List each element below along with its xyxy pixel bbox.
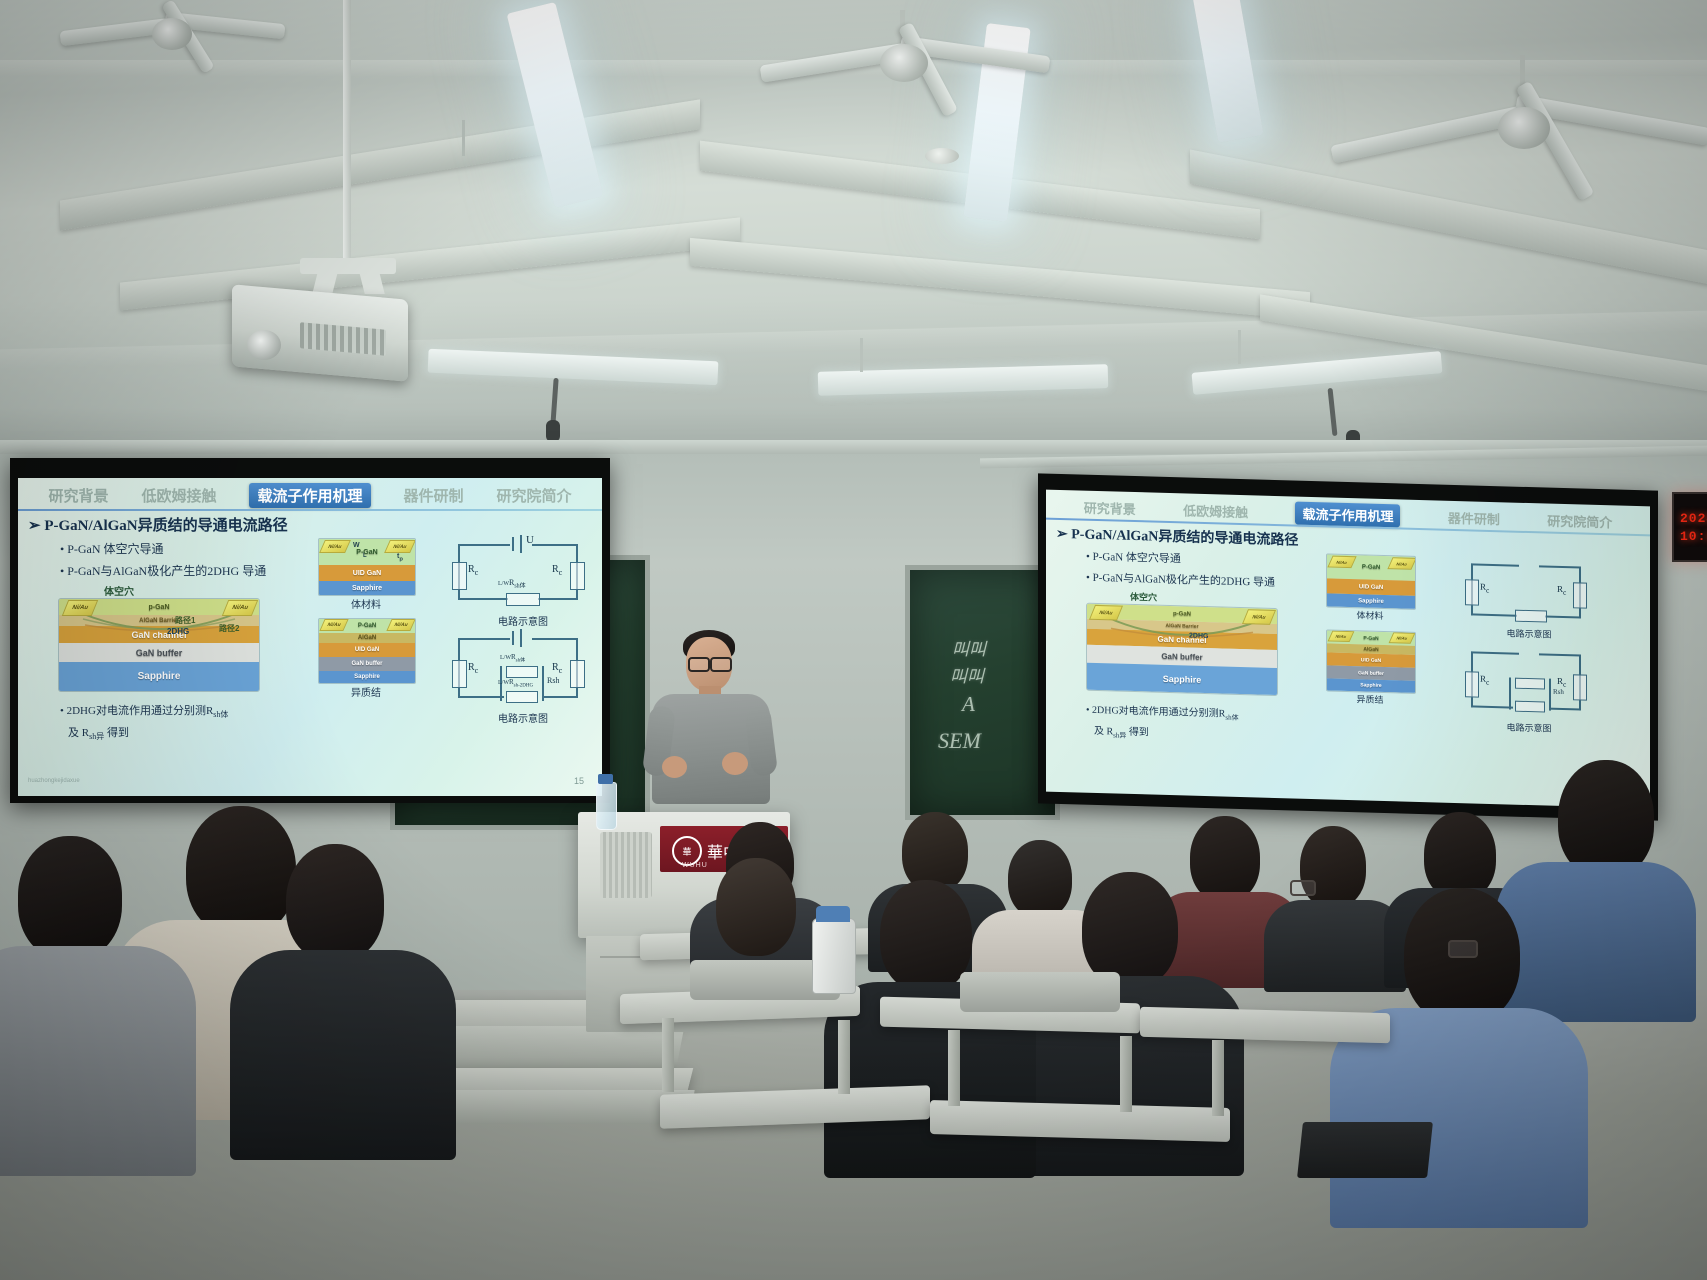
hetero-layer-1: AlGaN xyxy=(319,633,415,643)
circuit-top-caption: 电路示意图 xyxy=(478,613,568,628)
slide-tab-r3[interactable]: 器件研制 xyxy=(1448,507,1500,527)
rc-left-text: R xyxy=(468,662,475,673)
slide-footer-note-r2: 及 Rsh异 得到 xyxy=(1094,722,1149,742)
slide-watermark: huazhongkejidaxue xyxy=(28,778,80,784)
slide-tab-4[interactable]: 研究院简介 xyxy=(496,485,571,506)
bulk-layer-1: UID GaN xyxy=(319,565,415,581)
hetero-stack-right: P-GaN AlGaN UID GaN GaN buffer Sapphire … xyxy=(1326,629,1416,694)
dim-t-sub: p xyxy=(399,556,403,562)
circuit-bottom: Rc Rc L/WRsh体 L/WRsh-2DHG Rsh xyxy=(448,634,588,710)
rc-right-sub: c xyxy=(559,666,563,675)
hetero-stack-caption-r: 异质结 xyxy=(1342,692,1398,707)
audience-glasses xyxy=(1448,940,1478,958)
blackboard-center xyxy=(905,565,1060,820)
resistor-rc-right xyxy=(1573,582,1587,608)
slide-heading: ➢ P-GaN/AlGaN异质结的导通电流路径 xyxy=(28,514,288,535)
rc-right-sub: c xyxy=(559,568,563,577)
podium-speaker-grill xyxy=(600,832,652,898)
presenter-hand-right xyxy=(722,752,748,775)
podium-institution-en: WUHU xyxy=(682,862,708,869)
hetero-layer-2: UID GaN xyxy=(319,643,415,657)
resistor-rc-right xyxy=(570,562,585,590)
rc-left-sub: c xyxy=(475,568,479,577)
chalk-note: A xyxy=(962,692,975,717)
slide-tab-0[interactable]: 研究背景 xyxy=(48,485,108,506)
bullet-text: P-GaN与AlGaN极化产生的2DHG 导通 xyxy=(1093,572,1275,589)
presenter-glasses xyxy=(710,657,732,672)
circuit-top-caption-r: 电路示意图 xyxy=(1486,626,1572,641)
slide-bullet-0: • P-GaN 体空穴导通 xyxy=(60,540,164,557)
footer-text-3: 得到 xyxy=(107,727,129,739)
presenter-hand-left xyxy=(662,756,687,778)
rc-right-text: R xyxy=(552,564,559,575)
slide-tab-r1[interactable]: 低欧姆接触 xyxy=(1183,500,1248,521)
desk-leg xyxy=(948,1030,960,1106)
slide-tab-3[interactable]: 器件研制 xyxy=(403,485,463,506)
projector-lens xyxy=(247,330,281,360)
audience-head xyxy=(286,844,384,962)
rc-left-sub: c xyxy=(1486,586,1489,595)
bulk-layer-2: Sapphire xyxy=(1327,593,1415,608)
rc-left-text: R xyxy=(468,564,475,575)
projector-pole xyxy=(343,0,351,262)
rparallel-label: Rsh xyxy=(1553,688,1564,696)
slide-left: 研究背景 低欧姆接触 载流子作用机理 器件研制 研究院简介 ➢ P-GaN/Al… xyxy=(18,478,602,796)
lecture-hall-photo: 叫叫 叫叫 A SEM 研究背景 低欧姆接触 载流子作用机理 器件研制 研究院简… xyxy=(0,0,1707,1280)
water-bottle xyxy=(596,782,617,830)
footer-text-2: 及 R xyxy=(68,727,89,739)
resistor-branch2 xyxy=(1515,701,1545,713)
footer-text-3: 得到 xyxy=(1129,727,1149,739)
presenter-glasses xyxy=(688,657,710,672)
smoke-detector xyxy=(925,148,959,164)
band-contact-left: Ni/Au xyxy=(1089,605,1123,621)
led-clock-display: 2024/11/ 10:25:2 xyxy=(1672,492,1707,562)
hetero-layer-4: Sapphire xyxy=(319,671,415,683)
slide-footer-note-r: • 2DHG对电流作用通过分别测Rsh体 xyxy=(1086,701,1239,723)
bullet-text: P-GaN 体空穴导通 xyxy=(67,542,163,556)
light-hanger xyxy=(860,338,863,372)
chalk-note: 叫叫 xyxy=(950,662,984,687)
footer-sub-1: sh体 xyxy=(213,710,228,719)
circuit-bottom-caption-r: 电路示意图 xyxy=(1486,720,1572,735)
band-layer-4: Sapphire xyxy=(59,662,259,691)
mic-capsule xyxy=(546,420,560,442)
desk-leg xyxy=(1120,1036,1132,1112)
resistor-rsheet xyxy=(506,593,540,606)
audience-head xyxy=(716,858,796,956)
branch2-label: L/WRsh-2DHG xyxy=(498,678,533,688)
audience-head xyxy=(880,880,972,992)
chair-back xyxy=(960,972,1120,1012)
slide-bullet-r0: • P-GaN 体空穴导通 xyxy=(1086,548,1181,567)
thermos-cap xyxy=(816,906,850,922)
chalk-note: 叫叫 xyxy=(952,635,986,660)
audience-body xyxy=(230,950,456,1160)
bullet-text: P-GaN 体空穴导通 xyxy=(1093,551,1181,565)
slide-right: 研究背景 低欧姆接触 载流子作用机理 器件研制 研究院简介 ➢ P-GaN/Al… xyxy=(1046,490,1650,809)
slide-tab-r4[interactable]: 研究院简介 xyxy=(1547,510,1612,531)
circuit-top-right: Rc Rc xyxy=(1461,559,1591,629)
footer-sub-1: sh体 xyxy=(1225,714,1238,722)
water-bottle-cap xyxy=(598,774,613,784)
slide-bullet-1: • P-GaN与AlGaN极化产生的2DHG 导通 xyxy=(60,562,266,579)
laptop xyxy=(1297,1122,1433,1178)
slide-nav-left: 研究背景 低欧姆接触 载流子作用机理 器件研制 研究院简介 xyxy=(18,482,602,508)
footer-sub-2: sh异 xyxy=(1113,731,1126,739)
bulk-stack-caption: 体材料 xyxy=(336,596,396,611)
footer-text-1: 2DHG对电流作用通过分别测R xyxy=(1092,705,1225,720)
bulk-stack-right: P-GaN UID GaN Sapphire Ni/Au Ni/Au xyxy=(1326,553,1416,610)
ceiling-fan xyxy=(1330,55,1707,205)
light-hanger xyxy=(1238,330,1241,364)
slide-tab-r2[interactable]: 载流子作用机理 xyxy=(1295,501,1400,527)
carrier-2dhg-label: 2DHG xyxy=(1189,633,1208,641)
desk-leg xyxy=(1212,1040,1224,1116)
dim-t-label: tp xyxy=(397,553,403,562)
footer-text-2: 及 R xyxy=(1094,726,1113,738)
band-diagram-right: p-GaN AlGaN Barrier GaN channel GaN buff… xyxy=(1086,603,1278,696)
slide-rule xyxy=(18,509,602,511)
light-hanger xyxy=(462,120,465,156)
rc-left-label: Rc xyxy=(1480,582,1489,595)
slide-tab-2[interactable]: 载流子作用机理 xyxy=(249,483,370,508)
rc-left-label: Rc xyxy=(1480,674,1489,687)
circuit-bottom-caption: 电路示意图 xyxy=(478,710,568,725)
audience-body xyxy=(0,946,196,1176)
projector-mount xyxy=(300,258,396,274)
rc-left-label: Rc xyxy=(468,662,478,675)
led-time: 10:25:2 xyxy=(1680,529,1707,544)
branch1-sub: sh体 xyxy=(516,658,525,663)
resistor-rc-left xyxy=(452,660,467,688)
chalk-note: SEM xyxy=(938,728,981,754)
hetero-stack: P-GaN AlGaN UID GaN GaN buffer Sapphire … xyxy=(318,618,416,684)
resistor-branch2 xyxy=(506,691,538,703)
slide-tab-1[interactable]: 低欧姆接触 xyxy=(141,485,216,506)
audience-body xyxy=(1496,862,1696,1022)
dim-w-label: W xyxy=(353,542,360,549)
band-contact-right: Ni/Au xyxy=(1242,609,1276,625)
hetero-stack-caption: 异质结 xyxy=(336,684,396,699)
resistor-rsheet xyxy=(1515,610,1547,623)
bulk-stack-caption-r: 体材料 xyxy=(1342,608,1398,623)
audience-head xyxy=(1424,812,1496,900)
desk-leg xyxy=(662,1018,674,1092)
band-layer-4: Sapphire xyxy=(1087,663,1277,695)
rsheet-prefix: L/W xyxy=(498,581,509,587)
rc-right-text: R xyxy=(552,662,559,673)
slide-bullet-r1: • P-GaN与AlGaN极化产生的2DHG 导通 xyxy=(1086,569,1275,590)
thermos-bottle xyxy=(812,918,856,994)
audience-head xyxy=(1008,840,1072,918)
rc-left-sub: c xyxy=(1486,678,1489,687)
band-diagram: p-GaN AlGaN Barrier GaN channel GaN buff… xyxy=(58,598,260,692)
rsheet-sub: sh体 xyxy=(514,584,525,590)
rc-right-label: Rc xyxy=(1557,584,1566,597)
led-date: 2024/11/ xyxy=(1680,511,1707,526)
path1-label: 路径1 xyxy=(175,615,195,626)
resistor-branch1 xyxy=(1515,678,1545,690)
footer-sub-2: sh异 xyxy=(89,732,104,741)
audience-head xyxy=(18,836,122,960)
desk-leg xyxy=(838,1020,850,1094)
path2-label: 路径2 xyxy=(219,623,239,634)
resistor-branch1 xyxy=(506,666,538,678)
circuit-top: U Rc Rc L/WRsh体 xyxy=(448,540,588,612)
slide-footer-note: • 2DHG对电流作用通过分别测Rsh体 xyxy=(60,702,228,720)
slide-tab-r0[interactable]: 研究背景 xyxy=(1084,497,1136,517)
branch2-sub: sh-2DHG xyxy=(514,683,533,688)
rsheet-label: L/WRsh体 xyxy=(498,578,526,590)
slide-footer-note-2: 及 Rsh异 得到 xyxy=(68,724,129,742)
audience-head xyxy=(1082,872,1178,988)
ceiling-fan xyxy=(760,10,1050,125)
dim-l-label: L xyxy=(363,553,367,559)
resistor-rc-right xyxy=(570,660,585,688)
hetero-layer-3: GaN buffer xyxy=(319,657,415,671)
branch1-label: L/WRsh体 xyxy=(500,653,525,663)
resistor-rc-left xyxy=(1465,671,1479,697)
bulk-contact-right: Ni/Au xyxy=(1387,557,1416,570)
audience-head xyxy=(186,806,296,936)
circuit-source-label: U xyxy=(526,534,534,546)
footer-text-1: 2DHG对电流作用通过分别测R xyxy=(67,705,214,717)
slide-page-number: 15 xyxy=(574,776,584,786)
rc-right-label: Rc xyxy=(552,662,562,675)
bullet-text: P-GaN与AlGaN极化产生的2DHG 导通 xyxy=(67,564,266,578)
branch2-prefix: L/W xyxy=(498,680,509,686)
rc-right-sub: c xyxy=(1563,588,1566,597)
bulk-stack: P-GaN UID GaN Sapphire Ni/Au Ni/Au W L t… xyxy=(318,538,416,596)
carrier-2dhg-label: 2DHG xyxy=(167,627,189,636)
resistor-rc-right xyxy=(1573,674,1587,700)
resistor-rc-left xyxy=(1465,579,1479,605)
audience-head xyxy=(1558,760,1654,878)
circuit-bottom-right: Rc Rc Rsh xyxy=(1461,647,1591,723)
resistor-rc-left xyxy=(452,562,467,590)
rparallel-label: Rsh xyxy=(547,676,559,685)
rc-right-label: Rc xyxy=(552,564,562,577)
rc-left-label: Rc xyxy=(468,564,478,577)
rc-left-sub: c xyxy=(475,666,479,675)
band-top-label: 体空穴 xyxy=(104,583,134,598)
slide-heading-right: ➢ P-GaN/AlGaN异质结的导通电流路径 xyxy=(1056,523,1298,550)
audience-glasses xyxy=(1290,880,1316,896)
ceiling-fan xyxy=(60,0,290,70)
branch1-prefix: L/W xyxy=(500,655,511,661)
audience-head xyxy=(1190,816,1260,902)
bulk-layer-2: Sapphire xyxy=(319,581,415,595)
band-top-label-r: 体空穴 xyxy=(1130,590,1157,604)
hetero-layer-4: Sapphire xyxy=(1327,678,1415,692)
